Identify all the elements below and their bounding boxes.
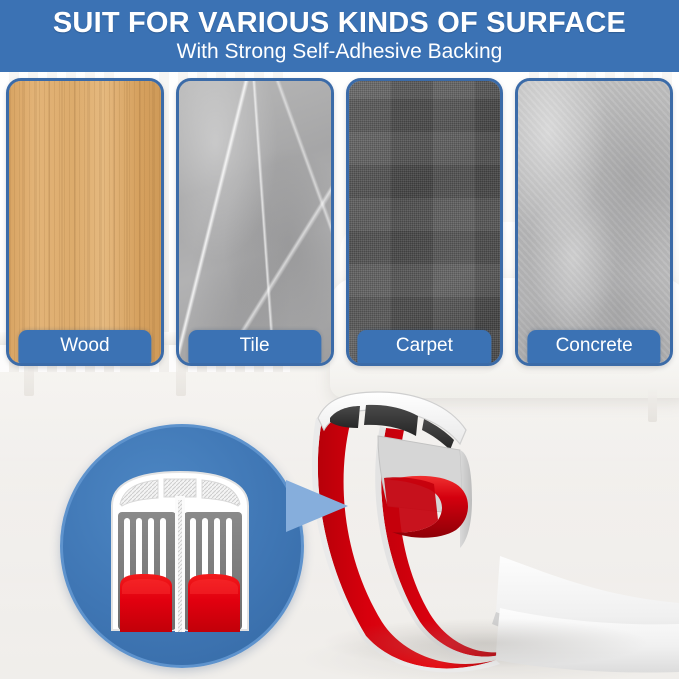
center-divider-seam — [178, 500, 182, 632]
product-contact-shadow — [320, 618, 650, 668]
banner-title: SUIT FOR VARIOUS KINDS OF SURFACE — [53, 8, 626, 38]
surface-label-wood: Wood — [18, 330, 151, 364]
cross-section-svg — [104, 466, 256, 636]
surface-swatch-tile: Tile — [176, 78, 334, 366]
surface-swatch-wood: Wood — [6, 78, 164, 366]
wood-grain-texture — [9, 81, 161, 363]
product-illustration — [300, 388, 679, 679]
adhesive-pad-right-highlight — [190, 579, 238, 594]
grey-marble-texture — [179, 81, 331, 363]
top-panel-center — [164, 479, 196, 497]
adhesive-peel-tab-edge — [384, 477, 438, 532]
surface-label-tile: Tile — [188, 330, 321, 364]
callout-arrow-icon — [286, 480, 348, 532]
surface-swatch-concrete: Concrete — [515, 78, 673, 366]
header-banner: SUIT FOR VARIOUS KINDS OF SURFACE With S… — [0, 0, 679, 72]
surface-swatch-carpet: Carpet — [346, 78, 504, 366]
cross-section-callout — [60, 424, 310, 668]
surface-label-carpet: Carpet — [358, 330, 491, 364]
light-concrete-texture — [518, 81, 670, 363]
banner-subtitle: With Strong Self-Adhesive Backing — [177, 40, 503, 64]
adhesive-pad-left-highlight — [122, 579, 170, 594]
surface-label-concrete: Concrete — [528, 330, 661, 364]
cord-cover-cross-section — [104, 466, 256, 636]
dark-woven-carpet-texture — [349, 81, 501, 363]
product-marketing-image: SUIT FOR VARIOUS KINDS OF SURFACE With S… — [0, 0, 679, 679]
surface-swatch-row: Wood Tile Carpet Concrete — [0, 78, 679, 368]
